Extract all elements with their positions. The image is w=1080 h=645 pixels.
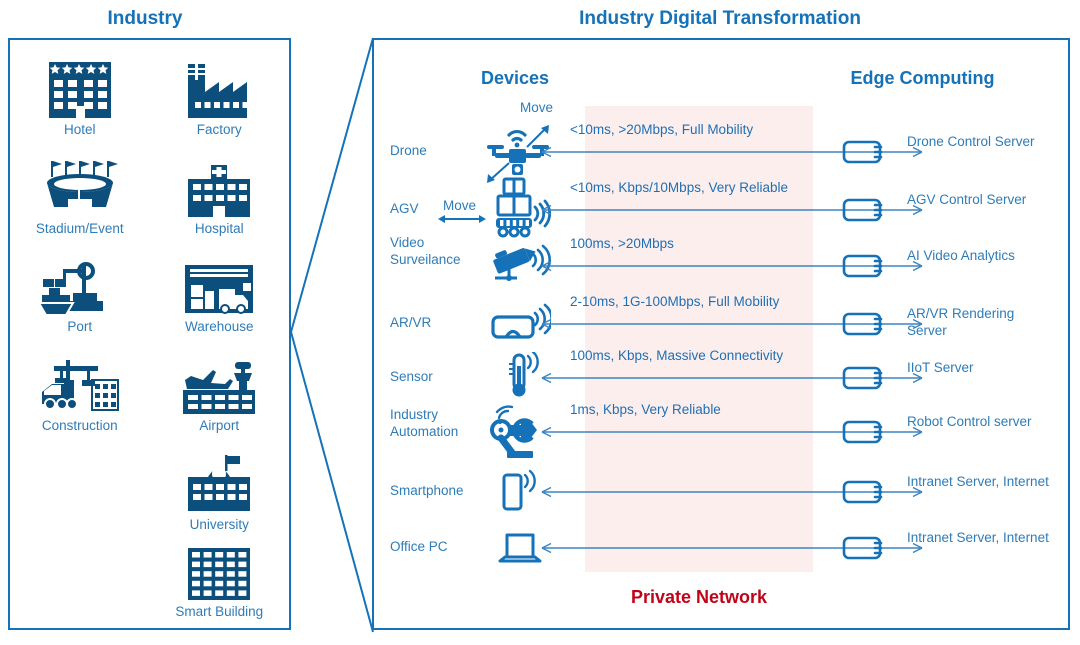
server-icon [842,364,902,397]
server-label: Intranet Server, Internet [907,530,1057,547]
industry-digital-transformation-title: Industry Digital Transformation [360,8,1080,30]
industry-item-label: Airport [199,418,239,434]
industry-icon-grid: HotelFactoryStadium/EventHospitalPortWar… [10,50,289,620]
devices-column-header: Devices [430,68,600,89]
device-label: Industry Automation [390,407,476,441]
industry-item-stadium-event[interactable]: Stadium/Event [10,161,150,237]
industry-item-label: Hotel [64,122,96,138]
agv-move-label: Move [443,198,476,213]
industry-item-label: University [190,517,249,533]
device-label: AR/VR [390,315,476,332]
server-label: AI Video Analytics [907,248,1057,265]
warehouse-icon [181,259,257,315]
server-icon [842,252,902,285]
port-icon [39,259,121,315]
server-label: AR/VR Rendering Server [907,306,1057,340]
hotel-icon [43,62,117,118]
industry-item-label: Hospital [195,221,244,237]
industry-panel: HotelFactoryStadium/EventHospitalPortWar… [8,38,291,630]
device-label: Video Surveilance [390,235,476,269]
device-label: Drone [390,143,476,160]
smart-building-icon [182,544,256,600]
industry-item-label: Port [67,319,92,335]
construction-icon [36,358,124,414]
industry-item-hospital[interactable]: Hospital [150,161,290,237]
industry-item-port[interactable]: Port [10,259,150,335]
server-label: IIoT Server [907,360,1057,377]
industry-item-hotel[interactable]: Hotel [10,62,150,138]
server-icon [842,534,902,567]
industry-item-university[interactable]: University [150,457,290,533]
server-label: Robot Control server [907,414,1057,431]
private-network-label: Private Network [585,587,813,608]
device-label: Smartphone [390,483,476,500]
industry-item-warehouse[interactable]: Warehouse [150,259,290,335]
stadium-icon [40,161,120,217]
airport-icon [179,358,259,414]
industry-item-factory[interactable]: Factory [150,62,290,138]
factory-icon [182,62,256,118]
industry-item-label: Stadium/Event [36,221,124,237]
server-icon [842,138,902,171]
industry-item-label: Factory [197,122,242,138]
private-network-band [585,106,813,572]
panel-connector [285,30,380,640]
server-icon [842,196,902,229]
industry-item-label: Warehouse [185,319,254,335]
server-icon [842,310,902,343]
industry-item-label: Construction [42,418,118,434]
server-icon [842,418,902,451]
server-label: AGV Control Server [907,192,1057,209]
diagram-root: Industry Industry Digital Transformation… [0,0,1080,645]
server-label: Intranet Server, Internet [907,474,1057,491]
drone-move-label: Move [520,100,553,115]
server-icon [842,478,902,511]
agv-move-arrow [436,212,488,231]
device-label: Sensor [390,369,476,386]
server-label: Drone Control Server [907,134,1057,151]
industry-item-label: Smart Building [175,604,263,620]
industry-title: Industry [0,8,290,30]
industry-item-smart-building[interactable]: Smart Building [150,544,290,620]
device-label: Office PC [390,539,476,556]
edge-computing-column-header: Edge Computing [835,68,1010,89]
hospital-icon [182,161,256,217]
university-icon [182,457,256,513]
industry-item-airport[interactable]: Airport [150,358,290,434]
industry-item-construction[interactable]: Construction [10,358,150,434]
